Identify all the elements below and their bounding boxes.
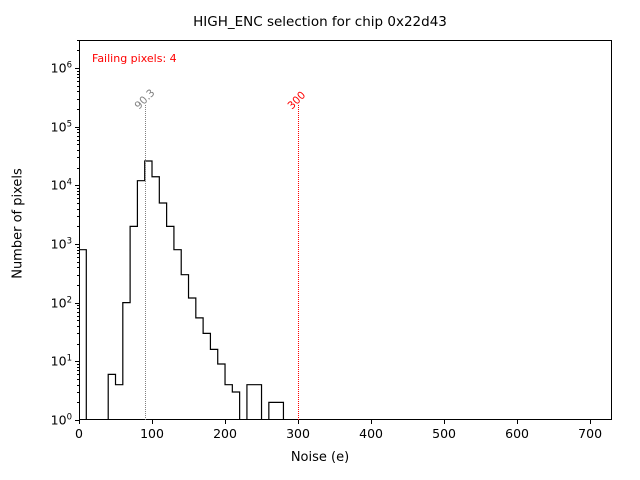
y-tick-minor <box>77 326 79 327</box>
y-tick-minor <box>77 374 79 375</box>
y-tick-minor <box>77 257 79 258</box>
y-tick-minor <box>77 129 79 130</box>
y-tick-minor <box>77 402 79 403</box>
y-tick-minor <box>77 250 79 251</box>
y-tick-label: 101 <box>28 354 72 369</box>
x-tick-label: 400 <box>359 426 383 441</box>
x-axis-label: Noise (e) <box>0 450 640 465</box>
page-title: HIGH_ENC selection for chip 0x22d43 <box>0 14 640 30</box>
y-tick-minor <box>77 216 79 217</box>
x-tick <box>517 420 518 424</box>
y-tick-minor <box>77 144 79 145</box>
y-tick <box>75 303 79 304</box>
x-tick <box>444 420 445 424</box>
y-tick-minor <box>77 150 79 151</box>
y-tick-minor <box>77 191 79 192</box>
y-tick-minor <box>77 392 79 393</box>
y-tick-minor <box>77 305 79 306</box>
y-tick-minor <box>77 81 79 82</box>
limit-line <box>298 105 299 420</box>
y-tick-minor <box>77 136 79 137</box>
y-tick-minor <box>77 198 79 199</box>
y-tick-minor <box>77 209 79 210</box>
y-tick-label: 102 <box>28 295 72 310</box>
y-tick-minor <box>77 253 79 254</box>
x-tick-label: 300 <box>286 426 310 441</box>
y-tick-minor <box>77 86 79 87</box>
x-tick <box>590 420 591 424</box>
x-tick-label: 0 <box>75 426 83 441</box>
x-tick-label: 500 <box>432 426 456 441</box>
y-tick-label: 100 <box>28 412 72 427</box>
y-tick-minor <box>77 194 79 195</box>
y-tick <box>75 361 79 362</box>
y-tick-minor <box>77 77 79 78</box>
y-tick-minor <box>77 262 79 263</box>
y-tick-minor <box>77 74 79 75</box>
y-tick-minor <box>77 99 79 100</box>
y-axis-label: Number of pixels <box>11 144 26 304</box>
y-tick <box>75 127 79 128</box>
y-tick-label: 106 <box>28 60 72 75</box>
y-tick-minor <box>77 370 79 371</box>
histogram-figure: HIGH_ENC selection for chip 0x22d43 Fail… <box>0 0 640 480</box>
y-tick-label: 103 <box>28 236 72 251</box>
y-tick-minor <box>77 320 79 321</box>
y-tick-minor <box>77 267 79 268</box>
x-tick-label: 200 <box>213 426 237 441</box>
histogram-step-plot <box>79 40 612 420</box>
y-tick-minor <box>77 385 79 386</box>
y-tick-minor <box>77 275 79 276</box>
y-tick-minor <box>77 157 79 158</box>
y-tick-minor <box>77 316 79 317</box>
failing-pixels-annotation: Failing pixels: 4 <box>92 52 177 65</box>
x-tick-label: 100 <box>140 426 164 441</box>
y-tick-label: 104 <box>28 178 72 193</box>
x-tick <box>298 420 299 424</box>
x-tick <box>371 420 372 424</box>
y-tick-minor <box>77 203 79 204</box>
x-tick <box>79 420 80 424</box>
y-tick-label: 105 <box>28 119 72 134</box>
y-tick <box>75 420 79 421</box>
y-tick-minor <box>77 188 79 189</box>
y-tick-minor <box>77 140 79 141</box>
y-tick-minor <box>77 40 79 41</box>
x-tick-label: 700 <box>578 426 602 441</box>
y-tick <box>75 68 79 69</box>
y-tick-minor <box>77 367 79 368</box>
y-tick-minor <box>77 344 79 345</box>
y-tick-minor <box>77 333 79 334</box>
y-tick-minor <box>77 109 79 110</box>
y-tick-minor <box>77 132 79 133</box>
y-tick-minor <box>77 285 79 286</box>
threshold-line <box>145 105 146 420</box>
x-tick <box>225 420 226 424</box>
y-tick-minor <box>77 168 79 169</box>
y-tick-minor <box>77 50 79 51</box>
y-tick-minor <box>77 379 79 380</box>
y-tick-minor <box>77 247 79 248</box>
x-tick <box>152 420 153 424</box>
y-tick-minor <box>77 71 79 72</box>
y-tick <box>75 185 79 186</box>
y-tick-minor <box>77 312 79 313</box>
y-tick-minor <box>77 226 79 227</box>
x-tick-label: 600 <box>505 426 529 441</box>
y-tick <box>75 244 79 245</box>
y-tick-minor <box>77 91 79 92</box>
y-tick-minor <box>77 308 79 309</box>
y-tick-minor <box>77 364 79 365</box>
